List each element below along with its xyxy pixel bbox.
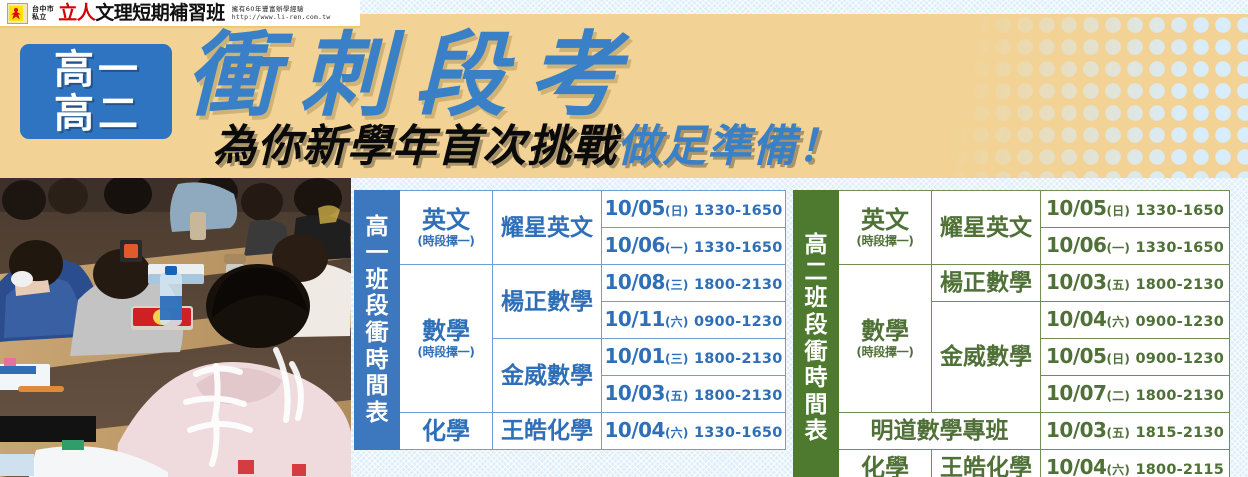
- slot-cell: 10/11(六) 0900-1230: [602, 302, 786, 339]
- slot-date: 10/07: [1046, 381, 1106, 405]
- slot-weekday: (六): [1106, 463, 1130, 477]
- slot-cell: 10/05(日) 1330-1650: [1041, 191, 1230, 228]
- table-row: 高二班段衝時間表 英文 (時段擇一) 耀星英文 10/05(日) 1330-16…: [794, 191, 1230, 228]
- slot-time: 0900-1230: [1135, 351, 1224, 367]
- slot-date: 10/05: [1046, 344, 1106, 368]
- slot-date: 10/04: [1046, 307, 1106, 331]
- school-name-black: 文理短期補習班: [95, 2, 225, 24]
- slot-date: 10/03: [604, 381, 664, 405]
- teacher-cell: 耀星英文: [493, 191, 602, 265]
- subject-name: 英文: [861, 206, 909, 234]
- table-row: 化學 王皓化學 10/04(六) 1330-1650: [355, 413, 786, 450]
- teacher-cell: 王皓化學: [932, 450, 1041, 477]
- slot-weekday: (一): [665, 241, 689, 255]
- slot-time: 1800-2130: [1135, 277, 1224, 293]
- table-vertical-header-grade2: 高二班段衝時間表: [794, 191, 839, 477]
- slot-cell: 10/05(日) 0900-1230: [1041, 339, 1230, 376]
- slot-cell: 10/04(六) 0900-1230: [1041, 302, 1230, 339]
- slot-weekday: (六): [665, 315, 689, 329]
- schedule-table-grade1: 高一班段衝時間表 英文 (時段擇一) 耀星英文 10/05(日) 1330-16…: [354, 190, 786, 450]
- grade-badge: 高一 高二: [20, 44, 172, 139]
- slot-time: 1330-1650: [694, 203, 783, 219]
- subject-cell: 英文 (時段擇一): [400, 191, 493, 265]
- slot-cell: 10/07(二) 1800-2130: [1041, 376, 1230, 413]
- slot-time: 1330-1650: [1135, 203, 1224, 219]
- table-row: 數學 (時段擇一) 楊正數學 10/03(五) 1800-2130: [794, 265, 1230, 302]
- table-row: 高一班段衝時間表 英文 (時段擇一) 耀星英文 10/05(日) 1330-16…: [355, 191, 786, 228]
- teacher-cell: 王皓化學: [493, 413, 602, 450]
- classroom-photo: [0, 178, 351, 477]
- hero-subtitle: 為你新學年首次挑戰做足準備！: [212, 122, 842, 172]
- slot-cell: 10/03(五) 1815-2130: [1041, 413, 1230, 450]
- school-url[interactable]: http://www.li-ren.com.tw: [232, 13, 331, 21]
- subject-cell: 化學: [839, 450, 932, 477]
- slot-weekday: (五): [1106, 426, 1130, 440]
- slot-date: 10/04: [604, 418, 664, 442]
- slot-time: 0900-1230: [1135, 314, 1224, 330]
- school-city-line1: 台中市: [32, 5, 54, 14]
- slot-date: 10/05: [1046, 196, 1106, 220]
- slot-cell: 10/03(五) 1800-2130: [602, 376, 786, 413]
- subject-note: (時段擇一): [402, 234, 490, 249]
- school-city-label: 台中市 私立: [32, 5, 54, 22]
- slot-cell: 10/05(日) 1330-1650: [602, 191, 786, 228]
- slot-time: 1800-2130: [694, 351, 783, 367]
- slot-date: 10/04: [1046, 455, 1106, 477]
- school-name: 立人文理短期補習班: [58, 2, 225, 24]
- slot-weekday: (日): [1106, 352, 1130, 366]
- slot-cell: 10/03(五) 1800-2130: [1041, 265, 1230, 302]
- schedule-table-grade2-wrapper: 高二班段衝時間表 英文 (時段擇一) 耀星英文 10/05(日) 1330-16…: [793, 190, 1230, 477]
- slot-time: 1800-2130: [1135, 388, 1224, 404]
- slot-weekday: (五): [665, 389, 689, 403]
- slot-weekday: (六): [1106, 315, 1130, 329]
- special-class-cell: 明道數學專班: [839, 413, 1041, 450]
- grade-badge-line2: 高二: [50, 92, 142, 136]
- teacher-cell: 耀星英文: [932, 191, 1041, 265]
- school-name-red: 立人: [58, 2, 95, 24]
- schedule-table-grade1-wrapper: 高一班段衝時間表 英文 (時段擇一) 耀星英文 10/05(日) 1330-16…: [354, 190, 786, 450]
- slot-weekday: (日): [665, 204, 689, 218]
- slot-weekday: (五): [1106, 278, 1130, 292]
- subject-cell: 化學: [400, 413, 493, 450]
- table-row: 化學 王皓化學 10/04(六) 1800-2115: [794, 450, 1230, 477]
- table-vertical-header-grade1: 高一班段衝時間表: [355, 191, 400, 450]
- person-mark-icon: [7, 3, 28, 24]
- slot-cell: 10/01(三) 1800-2130: [602, 339, 786, 376]
- subject-note: (時段擇一): [402, 345, 490, 360]
- slot-weekday: (日): [1106, 204, 1130, 218]
- slot-date: 10/06: [604, 233, 664, 257]
- subject-cell: 數學 (時段擇一): [839, 265, 932, 413]
- slot-time: 1815-2130: [1135, 425, 1224, 441]
- subject-note: (時段擇一): [841, 345, 929, 360]
- slot-date: 10/01: [604, 344, 664, 368]
- slot-date: 10/05: [604, 196, 664, 220]
- slot-cell: 10/04(六) 1800-2115: [1041, 450, 1230, 477]
- slot-time: 1800-2115: [1135, 462, 1224, 477]
- slot-time: 1330-1650: [694, 425, 783, 441]
- halftone-dots-decoration: [948, 14, 1248, 178]
- slot-weekday: (三): [665, 278, 689, 292]
- slot-weekday: (三): [665, 352, 689, 366]
- slot-date: 10/06: [1046, 233, 1106, 257]
- slot-time: 1330-1650: [1135, 240, 1224, 256]
- slot-cell: 10/06(一) 1330-1650: [602, 228, 786, 265]
- subject-name: 化學: [861, 454, 909, 477]
- slot-date: 10/03: [1046, 418, 1106, 442]
- hero-subtitle-blue: 做足準備！: [617, 121, 842, 172]
- teacher-cell: 楊正數學: [493, 265, 602, 339]
- slot-cell: 10/04(六) 1330-1650: [602, 413, 786, 450]
- teacher-cell: 楊正數學: [932, 265, 1041, 302]
- subject-note: (時段擇一): [841, 234, 929, 249]
- slot-cell: 10/08(三) 1800-2130: [602, 265, 786, 302]
- slot-weekday: (六): [665, 426, 689, 440]
- schedule-table-grade2: 高二班段衝時間表 英文 (時段擇一) 耀星英文 10/05(日) 1330-16…: [793, 190, 1230, 477]
- subject-cell: 英文 (時段擇一): [839, 191, 932, 265]
- hero-subtitle-black: 為你新學年首次挑戰: [212, 121, 617, 172]
- teacher-cell: 金威數學: [932, 302, 1041, 413]
- slot-time: 0900-1230: [694, 314, 783, 330]
- school-city-line2: 私立: [32, 13, 54, 22]
- vertical-header-text: 高一班段衝時間表: [357, 214, 397, 427]
- slot-cell: 10/06(一) 1330-1650: [1041, 228, 1230, 265]
- slot-date: 10/11: [604, 307, 664, 331]
- subject-cell: 數學 (時段擇一): [400, 265, 493, 413]
- slot-time: 1800-2130: [694, 277, 783, 293]
- vertical-header-text: 高二班段衝時間表: [796, 232, 836, 445]
- school-logo-bar: 台中市 私立 立人文理短期補習班 擁有60年豐富辦學經驗 http://www.…: [0, 0, 360, 28]
- table-row: 數學 (時段擇一) 楊正數學 10/08(三) 1800-2130: [355, 265, 786, 302]
- table-row: 明道數學專班 10/03(五) 1815-2130: [794, 413, 1230, 450]
- subject-name: 數學: [422, 317, 470, 345]
- slot-time: 1330-1650: [694, 240, 783, 256]
- promo-banner: 台中市 私立 立人文理短期補習班 擁有60年豐富辦學經驗 http://www.…: [0, 0, 1248, 477]
- slot-date: 10/03: [1046, 270, 1106, 294]
- slot-weekday: (二): [1106, 389, 1130, 403]
- hero-title: 衝刺段考: [186, 22, 642, 128]
- grade-badge-line1: 高一: [50, 48, 142, 92]
- slot-time: 1800-2130: [694, 388, 783, 404]
- school-tagline: 擁有60年豐富辦學經驗: [232, 5, 331, 13]
- slot-date: 10/08: [604, 270, 664, 294]
- school-tagline-block: 擁有60年豐富辦學經驗 http://www.li-ren.com.tw: [232, 5, 331, 21]
- subject-name: 化學: [422, 417, 470, 445]
- teacher-cell: 金威數學: [493, 339, 602, 413]
- subject-name: 數學: [861, 317, 909, 345]
- slot-weekday: (一): [1106, 241, 1130, 255]
- subject-name: 英文: [422, 206, 470, 234]
